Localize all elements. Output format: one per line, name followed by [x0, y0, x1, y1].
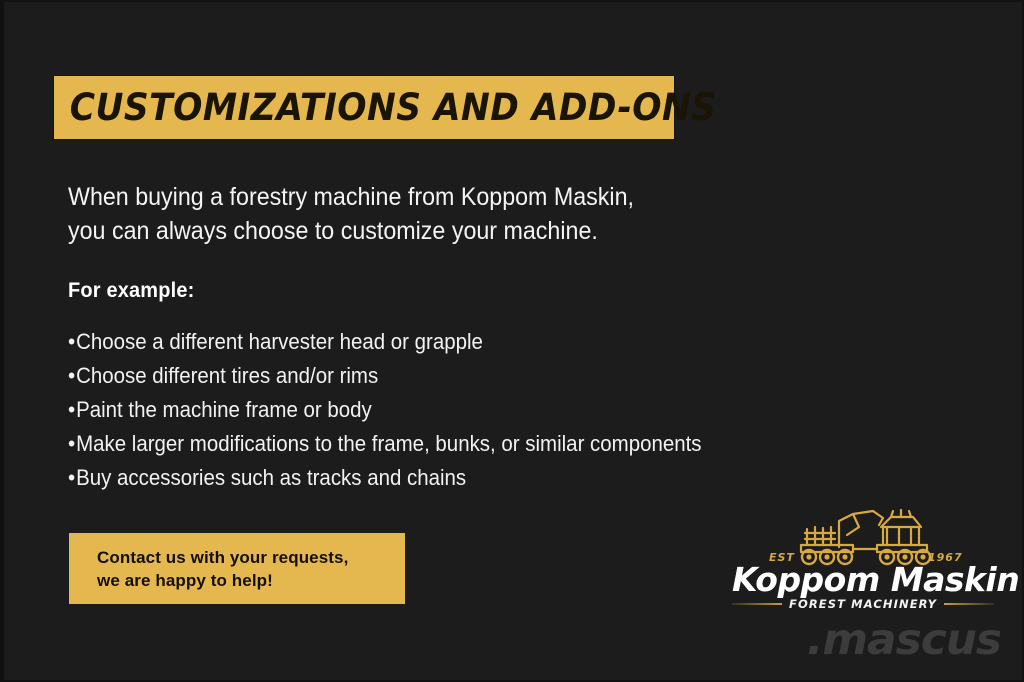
- intro-line-1: When buying a forestry machine from Kopp…: [68, 180, 738, 214]
- intro-paragraph: When buying a forestry machine from Kopp…: [68, 180, 738, 248]
- bullet-dot-icon: •: [68, 427, 75, 461]
- contact-cta-box[interactable]: Contact us with your requests, we are ha…: [69, 533, 405, 604]
- bullet-dot-icon: •: [68, 461, 75, 495]
- list-item: •Choose a different harvester head or gr…: [68, 325, 775, 359]
- intro-line-2: you can always choose to customize your …: [68, 214, 738, 248]
- bullet-dot-icon: •: [68, 359, 75, 393]
- bullet-dot-icon: •: [68, 325, 75, 359]
- logo-subline-label: FOREST MACHINERY: [789, 597, 937, 611]
- example-heading: For example:: [68, 279, 194, 303]
- logo-rule-left: [732, 603, 782, 605]
- bullet-dot-icon: •: [68, 393, 75, 427]
- list-item-label: Choose different tires and/or rims: [76, 363, 378, 388]
- list-item-label: Paint the machine frame or body: [76, 397, 372, 422]
- list-item: •Buy accessories such as tracks and chai…: [68, 461, 775, 495]
- contact-line-1: Contact us with your requests,: [97, 546, 405, 569]
- koppom-maskin-logo: EST 1967 Koppom Maskin FOREST MACHINERY: [732, 505, 994, 615]
- mascus-watermark: .mascus: [756, 616, 1001, 664]
- list-item: •Paint the machine frame or body: [68, 393, 775, 427]
- logo-wordmark: Koppom Maskin: [732, 563, 994, 597]
- list-item: •Choose different tires and/or rims: [68, 359, 775, 393]
- list-item-label: Make larger modifications to the frame, …: [76, 431, 701, 456]
- list-item: •Make larger modifications to the frame,…: [68, 427, 775, 461]
- list-item-label: Buy accessories such as tracks and chain…: [76, 465, 466, 490]
- contact-line-2: we are happy to help!: [97, 569, 405, 592]
- logo-subline: FOREST MACHINERY: [732, 597, 994, 611]
- list-item-label: Choose a different harvester head or gra…: [76, 329, 483, 354]
- customization-options-list: •Choose a different harvester head or gr…: [68, 325, 828, 495]
- logo-rule-right: [944, 603, 994, 605]
- poster-canvas: CUSTOMIZATIONS AND ADD-ONS When buying a…: [0, 0, 1024, 682]
- page-title: CUSTOMIZATIONS AND ADD-ONS: [54, 86, 717, 129]
- title-banner: CUSTOMIZATIONS AND ADD-ONS: [54, 76, 674, 139]
